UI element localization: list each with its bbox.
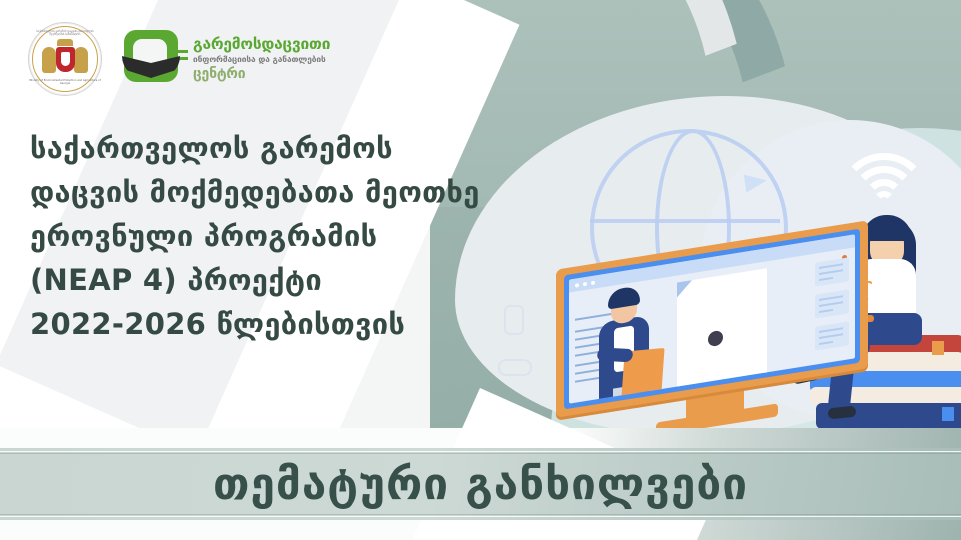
participant-arm [596, 347, 634, 362]
document-corner-fold [677, 280, 692, 297]
logo-bar [170, 50, 188, 53]
logo-line-1: გარემოსდაცვითი [193, 36, 330, 54]
sidebar-card [815, 321, 849, 350]
banner-rule [0, 514, 961, 515]
banner-strip: თემატური განხილვები [0, 448, 961, 520]
banner-rule [0, 451, 961, 452]
coat-of-arms-of-georgia-seal: საქართველოს გარემოს დაცვისა და სოფლის მე… [28, 22, 102, 96]
open-book-logo-icon [122, 28, 184, 90]
online-meeting-illustration [560, 135, 961, 435]
title-line: საქართველოს გარემოს [30, 126, 460, 170]
page-title: საქართველოს გარემოს დაცვის მოქმედებათა მ… [30, 126, 460, 346]
logo-line-3: ცენტრი [193, 66, 330, 82]
paperclip-icon [504, 305, 524, 335]
paper-plane-icon [744, 172, 768, 193]
banner-rule [0, 516, 961, 517]
title-line: 2022-2026 წლებისთვის [30, 302, 460, 346]
lion-supporter-left [42, 47, 56, 73]
eic-center-logo: გარემოსდაცვითი ინფორმაციისა და განათლები… [122, 28, 330, 90]
sidebar-card [815, 289, 849, 318]
wifi-icon [842, 153, 926, 211]
seal-rim-text: საქართველოს გარემოს დაცვისა და სოფლის მე… [29, 30, 101, 36]
bottom-banner-area: თემატური განხილვები [0, 428, 961, 540]
globe-equator-line [590, 219, 780, 223]
title-line: დაცვის მოქმედებათა მეოთხე [30, 170, 460, 214]
presentation-slide: საქართველოს გარემოს დაცვისა და სოფლის მე… [0, 0, 961, 540]
crown-icon [57, 39, 73, 46]
pill-shape-icon [498, 359, 532, 376]
bookmark-icon [942, 407, 954, 421]
shield-icon [56, 47, 75, 72]
banner-title: თემატური განხილვები [213, 459, 748, 510]
logo-row: საქართველოს გარემოს დაცვისა და სოფლის მე… [28, 22, 330, 96]
logo-line-2: ინფორმაციისა და განათლების [193, 55, 330, 65]
title-line: (NEAP 4) პროექტი [30, 258, 460, 302]
title-line: ეროვნული პროგრამის [30, 214, 460, 258]
banner-rule [0, 453, 961, 454]
lion-supporter-right [74, 47, 88, 73]
bookmark-icon [932, 341, 944, 355]
sidebar-card [815, 257, 849, 286]
seal-footer-text: Ministry of Environmental Protection and… [29, 79, 101, 86]
